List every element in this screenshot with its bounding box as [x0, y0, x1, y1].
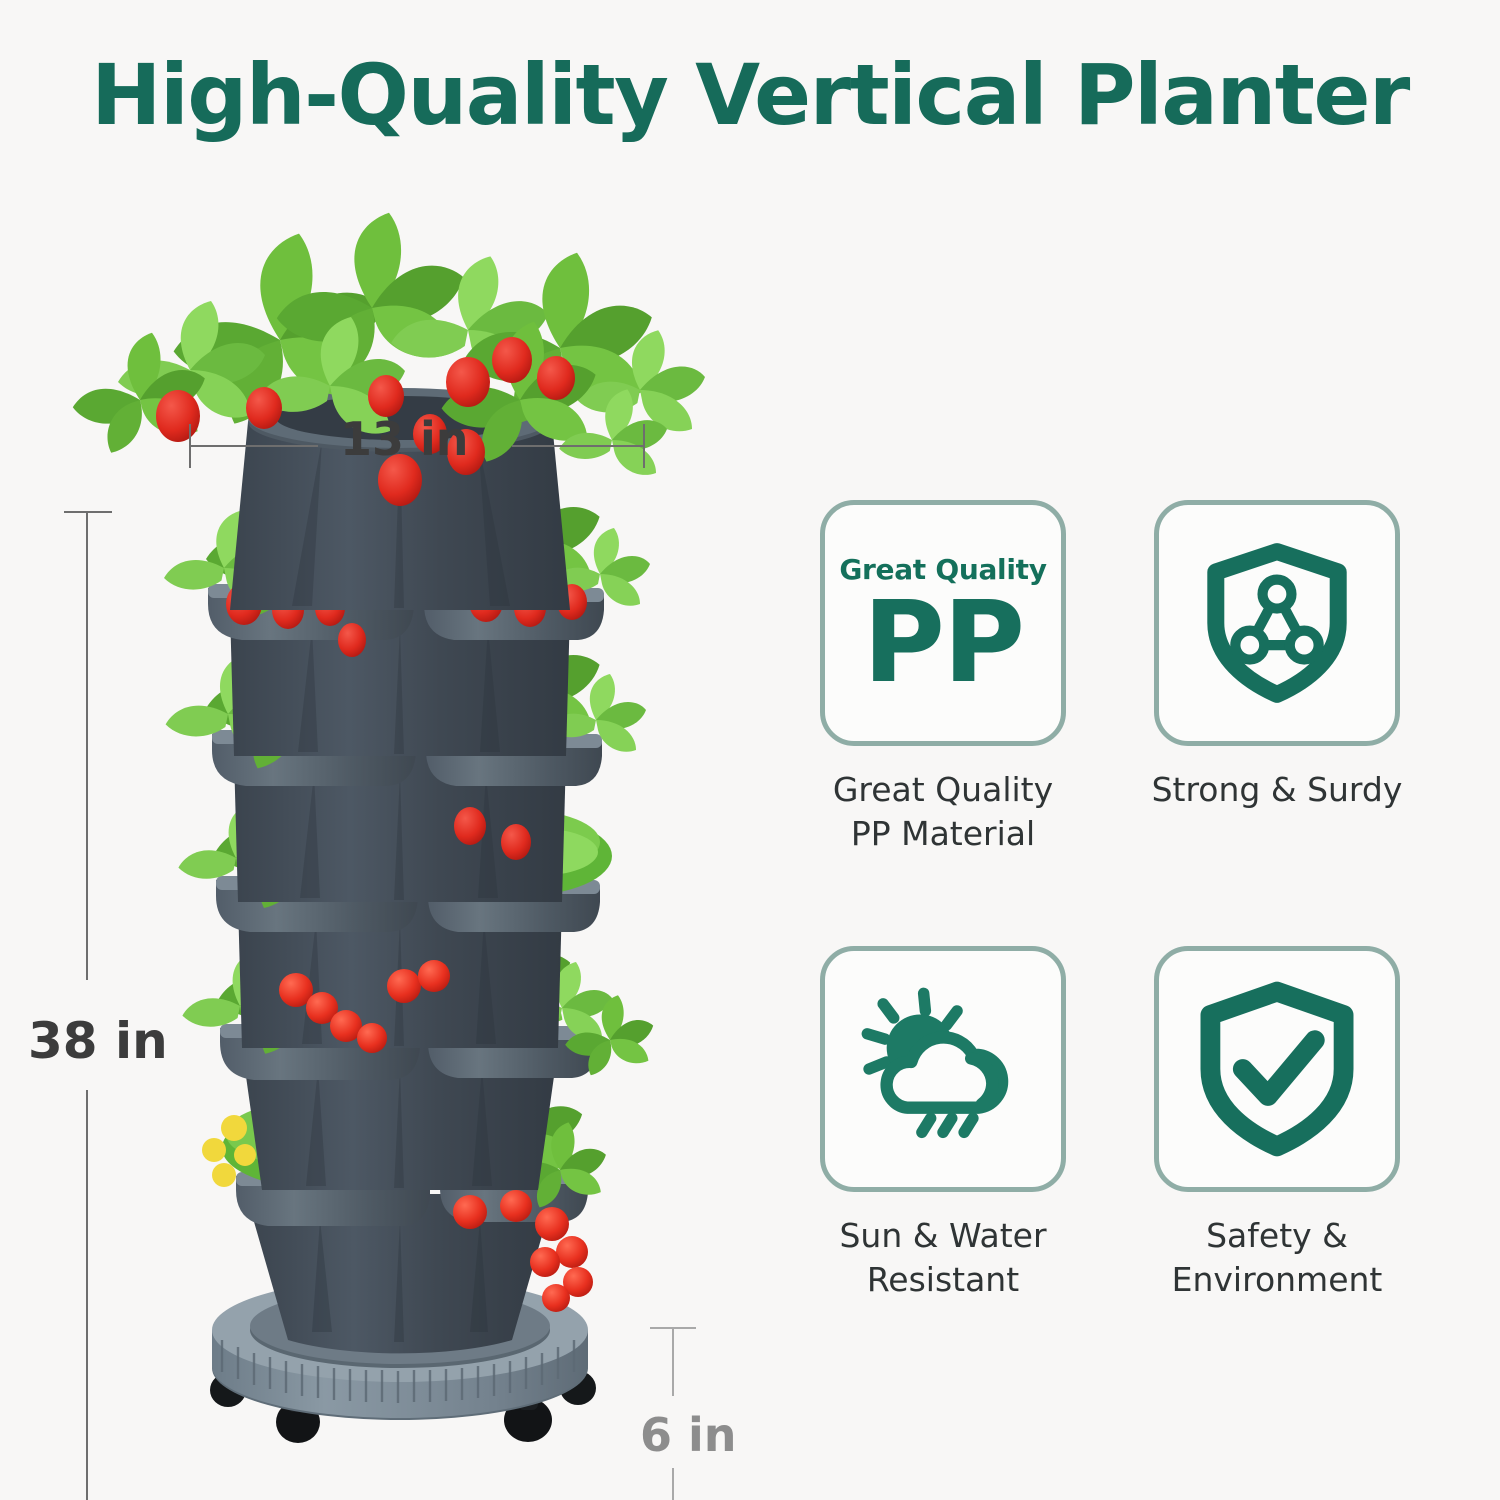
dimension-label-height: 38 in — [28, 1012, 168, 1070]
dimension-line-height-bottom — [86, 1090, 88, 1500]
dimension-cap-width-right — [643, 424, 645, 468]
feature-item-pp-material: Great Quality PP Great Quality PP Materi… — [800, 500, 1086, 894]
dimension-label-base-height: 6 in — [640, 1408, 737, 1462]
product-illustration-area: 13 in 38 in 6 in — [0, 190, 790, 1480]
feature-icon-card-sun-water-resistant — [820, 946, 1066, 1192]
sun-cloud-rain-icon — [855, 981, 1031, 1157]
dimension-line-base-bottom — [672, 1468, 674, 1500]
feature-caption-sun-water-resistant: Sun & Water Resistant — [839, 1214, 1046, 1301]
feature-icon-card-strong-sturdy — [1154, 500, 1400, 746]
dimension-line-width-right — [512, 445, 644, 447]
feature-item-safety-environment: Safety & Environment — [1134, 946, 1420, 1340]
feature-caption-safety-environment: Safety & Environment — [1172, 1214, 1383, 1301]
vertical-planter-image — [0, 190, 790, 1480]
dimension-cap-height-top — [64, 511, 112, 513]
shield-check-icon — [1187, 979, 1367, 1159]
feature-item-sun-water-resistant: Sun & Water Resistant — [800, 946, 1086, 1340]
dimension-line-base-top — [672, 1328, 674, 1396]
dimension-line-width-left — [190, 445, 318, 447]
feature-icon-card-pp-material: Great Quality PP — [820, 500, 1066, 746]
dimension-cap-width-left — [189, 424, 191, 468]
feature-caption-strong-sturdy: Strong & Surdy — [1152, 768, 1403, 812]
feature-item-strong-sturdy: Strong & Surdy — [1134, 500, 1420, 894]
feature-caption-pp-material: Great Quality PP Material — [833, 768, 1053, 855]
dimension-line-height-top — [86, 512, 88, 980]
feature-grid: Great Quality PP Great Quality PP Materi… — [800, 500, 1420, 1340]
page-title: High-Quality Vertical Planter — [0, 46, 1500, 144]
pp-material-badge-icon: PP — [863, 592, 1023, 695]
feature-icon-card-safety-environment — [1154, 946, 1400, 1192]
dimension-label-width: 13 in — [340, 412, 469, 466]
shield-triangle-icon — [1192, 538, 1362, 708]
dimension-cap-base-top — [650, 1327, 696, 1329]
